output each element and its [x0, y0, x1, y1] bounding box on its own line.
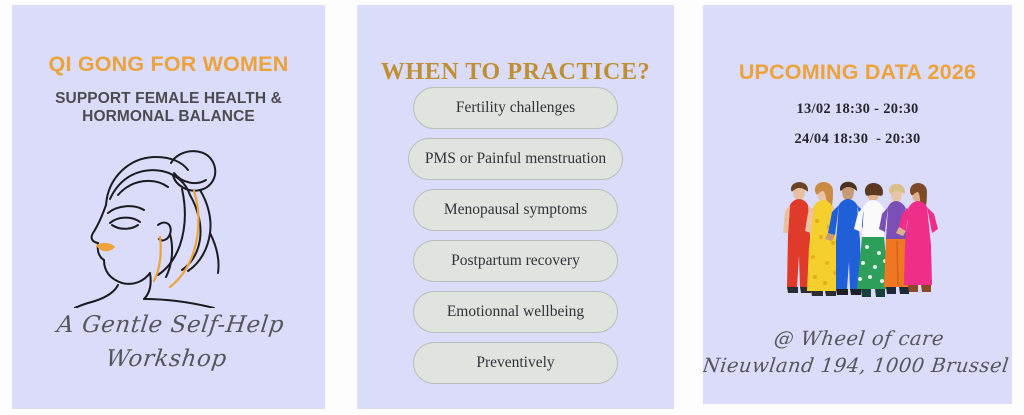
workshop-tagline: A Gentle Self-Help Workshop: [12, 308, 325, 376]
session-date: 13/02 18:30 - 20:30: [703, 94, 1012, 124]
list-item[interactable]: Emotionnal wellbeing: [413, 291, 618, 333]
list-item[interactable]: Fertility challenges: [413, 87, 618, 129]
panel-when-to-practice: WHEN TO PRACTICE? Fertility challenges P…: [357, 5, 674, 409]
panel-upcoming-dates: UPCOMING DATA 2026 13/02 18:30 - 20:30 2…: [703, 5, 1012, 404]
venue-address: @ Wheel of care Nieuwland 194, 1000 Brus…: [703, 325, 1012, 379]
list-item[interactable]: PMS or Painful menstruation: [408, 138, 623, 180]
panel-qi-gong-for-women: QI GONG FOR WOMEN SUPPORT FEMALE HEALTH …: [12, 5, 325, 409]
venue-name: @ Wheel of care: [703, 325, 1012, 352]
workshop-tagline-line-2: Workshop: [12, 342, 325, 376]
subtitle-text: SUPPORT FEMALE HEALTH & HORMONAL BALANCE: [28, 90, 309, 127]
workshop-tagline-line-1: A Gentle Self-Help: [12, 308, 325, 342]
woman-face-line-art-icon: [74, 133, 264, 308]
six-women-group-icon: [775, 175, 941, 315]
flyer-canvas: QI GONG FOR WOMEN SUPPORT FEMALE HEALTH …: [0, 0, 1024, 415]
venue-street: Nieuwland 194, 1000 Brussel: [703, 352, 1012, 379]
page-title: QI GONG FOR WOMEN: [12, 52, 325, 77]
list-item[interactable]: Preventively: [413, 342, 618, 384]
upcoming-dates-title: UPCOMING DATA 2026: [703, 60, 1012, 85]
list-item[interactable]: Postpartum recovery: [413, 240, 618, 282]
session-dates-list: 13/02 18:30 - 20:30 24/04 18:30 - 20:30: [703, 94, 1012, 154]
session-date: 24/04 18:30 - 20:30: [703, 124, 1012, 154]
when-to-practice-title: WHEN TO PRACTICE?: [357, 59, 674, 86]
practice-reasons-list: Fertility challenges PMS or Painful mens…: [357, 87, 674, 384]
list-item[interactable]: Menopausal symptoms: [413, 189, 618, 231]
